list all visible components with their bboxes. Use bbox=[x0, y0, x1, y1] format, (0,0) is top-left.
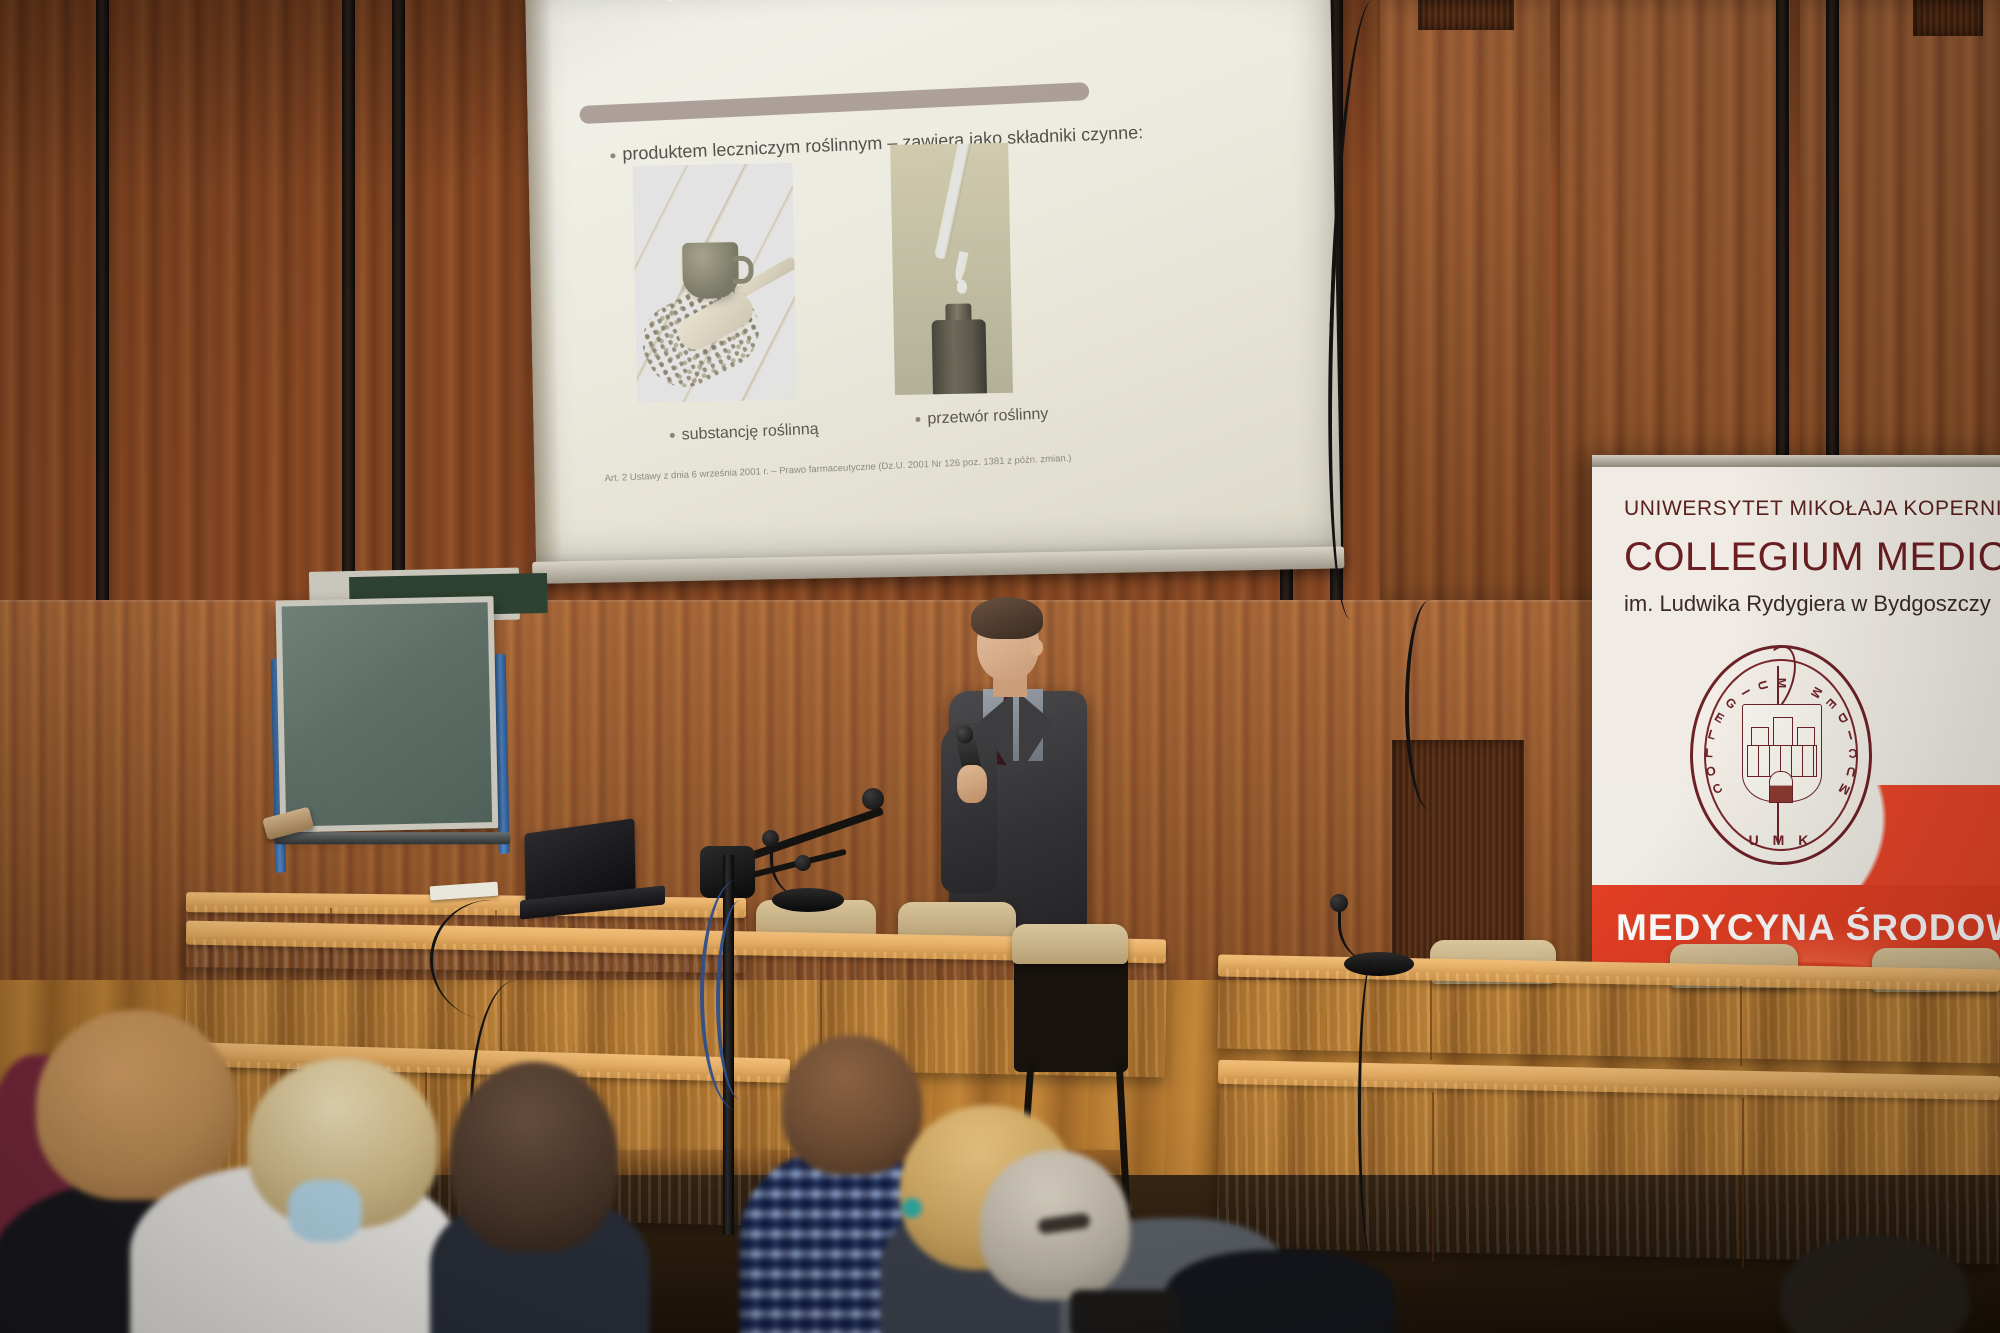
seal-arc-char: U bbox=[1845, 764, 1857, 780]
slide-caption-right-text: przetwór roślinny bbox=[927, 406, 1049, 428]
wall-pilaster-15 bbox=[1826, 0, 1839, 470]
chalkboard-writing-surface[interactable] bbox=[282, 602, 493, 826]
slide-caption-right: przetwór roślinny bbox=[915, 406, 1049, 430]
banner-patron-line: im. Ludwika Rydygiera w Bydgoszczy bbox=[1624, 591, 1991, 617]
right-desk-microphone-base bbox=[1344, 952, 1414, 976]
seal-arc-char: L bbox=[1706, 727, 1717, 743]
audience-member-4-hair bbox=[450, 1062, 618, 1252]
speaker-hair bbox=[971, 597, 1043, 639]
presenter-chair-back[interactable] bbox=[1014, 952, 1128, 1072]
lecture-hall-photo: Czym jest lek roślinny? produktem leczni… bbox=[0, 0, 2000, 1333]
slide-footnote: Art. 2 Ustawy z dnia 6 września 2001 r. … bbox=[604, 453, 1071, 484]
caption-bullet-left-icon bbox=[670, 433, 675, 438]
desk-seam-e1 bbox=[1432, 1092, 1434, 1262]
presentation-slide: Czym jest lek roślinny? produktem leczni… bbox=[569, 0, 1338, 519]
presenter-chair-seat[interactable] bbox=[1012, 924, 1128, 964]
boom-microphone-capsule-icon[interactable] bbox=[862, 788, 884, 810]
slide-image-tincture bbox=[890, 143, 1013, 395]
desk-seam-d1 bbox=[1430, 980, 1432, 1060]
seal-arc-char: M bbox=[1837, 780, 1853, 797]
right-desk-back bbox=[1217, 969, 2000, 1064]
banner-collegium-medicum: COLLEGIUM MEDICUM bbox=[1624, 535, 2000, 580]
blue-cable-coil-2 bbox=[716, 900, 766, 1100]
audience-member-2-hair bbox=[36, 1010, 236, 1200]
wall-panel-right-a bbox=[1380, 0, 1550, 600]
seal-arc-char: I bbox=[1739, 687, 1753, 697]
right-desk-cable bbox=[1358, 960, 1387, 1260]
seal-initials: U M K bbox=[1693, 832, 1869, 848]
slide-caption-left-text: substancję roślinną bbox=[681, 421, 819, 444]
desk-seam-d2 bbox=[1740, 986, 1742, 1066]
seal-arc-char: E bbox=[1823, 696, 1839, 712]
ceiling-vent-grille bbox=[1418, 0, 1514, 30]
right-desk-microphone-capsule-icon[interactable] bbox=[1330, 894, 1348, 912]
screen-surface: Czym jest lek roślinny? produktem leczni… bbox=[525, 0, 1341, 566]
seal-arc-char: I bbox=[1846, 728, 1853, 742]
university-seal-icon: COLLEGIUM MEDICUM U M K bbox=[1690, 645, 1872, 865]
chalkboard-easel[interactable] bbox=[275, 567, 531, 872]
audience-member-6-hair-tie bbox=[902, 1198, 922, 1218]
pipette-tip bbox=[954, 251, 969, 282]
slide-accent-bar bbox=[579, 82, 1089, 124]
chalkboard[interactable] bbox=[275, 596, 498, 833]
seal-arc-char: C bbox=[1710, 781, 1725, 798]
seal-arc-char: O bbox=[1705, 764, 1718, 780]
banner-university-name: UNIWERSYTET MIKOŁAJA KOPERNIKA bbox=[1624, 497, 2000, 521]
hanging-cable-2 bbox=[1405, 600, 1455, 810]
tincture-bottle bbox=[932, 319, 988, 395]
desk-seam-e2 bbox=[1742, 1098, 1744, 1268]
projection-screen: Czym jest lek roślinny? produktem leczni… bbox=[525, 0, 1342, 607]
caption-bullet-right-icon bbox=[915, 417, 920, 422]
bullet-dot-icon bbox=[610, 153, 615, 158]
banner-red-title: MEDYCYNA ŚRODOWISKOWA bbox=[1616, 907, 2000, 949]
wall-vent-grille bbox=[1913, 0, 1983, 36]
slide-bullet-primary: produktem leczniczym roślinnym – zawiera… bbox=[610, 122, 1144, 165]
audience-member-5-hair bbox=[782, 1035, 922, 1175]
slide-title: Czym jest lek roślinny? bbox=[626, 0, 981, 3]
coat-of-arms-shield-icon bbox=[1742, 704, 1822, 802]
castle-gate-icon bbox=[1769, 771, 1793, 803]
speaker-hand bbox=[957, 765, 987, 803]
speaker bbox=[935, 595, 1105, 935]
glass-pipette bbox=[934, 143, 974, 260]
seal-arc-char: D bbox=[1835, 710, 1850, 727]
seal-arc-char: L bbox=[1705, 746, 1713, 760]
seal-arc-char: G bbox=[1722, 695, 1739, 712]
chalk-tray bbox=[274, 832, 510, 844]
slide-caption-left: substancję roślinną bbox=[669, 421, 819, 445]
handbag bbox=[1070, 1290, 1180, 1333]
speaker-ear bbox=[1030, 639, 1043, 656]
audience-member-8-body bbox=[1165, 1250, 1395, 1333]
seal-arc-char: M bbox=[1808, 684, 1825, 700]
desk-microphone-capsule-icon[interactable] bbox=[762, 830, 779, 847]
slide-image-herbs bbox=[633, 163, 798, 403]
audience-member-3-collar bbox=[288, 1180, 362, 1242]
liquid-droplet bbox=[957, 280, 967, 294]
desk-microphone-base bbox=[772, 888, 844, 912]
banner-top-rail bbox=[1592, 455, 2000, 467]
wall-pilaster-14 bbox=[1776, 0, 1789, 470]
seal-arc-char: C bbox=[1848, 746, 1857, 760]
slide-bullet-primary-text: produktem leczniczym roślinnym – zawiera… bbox=[622, 122, 1144, 164]
seal-arc-char: E bbox=[1712, 710, 1726, 726]
herbal-tea-cup bbox=[682, 242, 739, 299]
